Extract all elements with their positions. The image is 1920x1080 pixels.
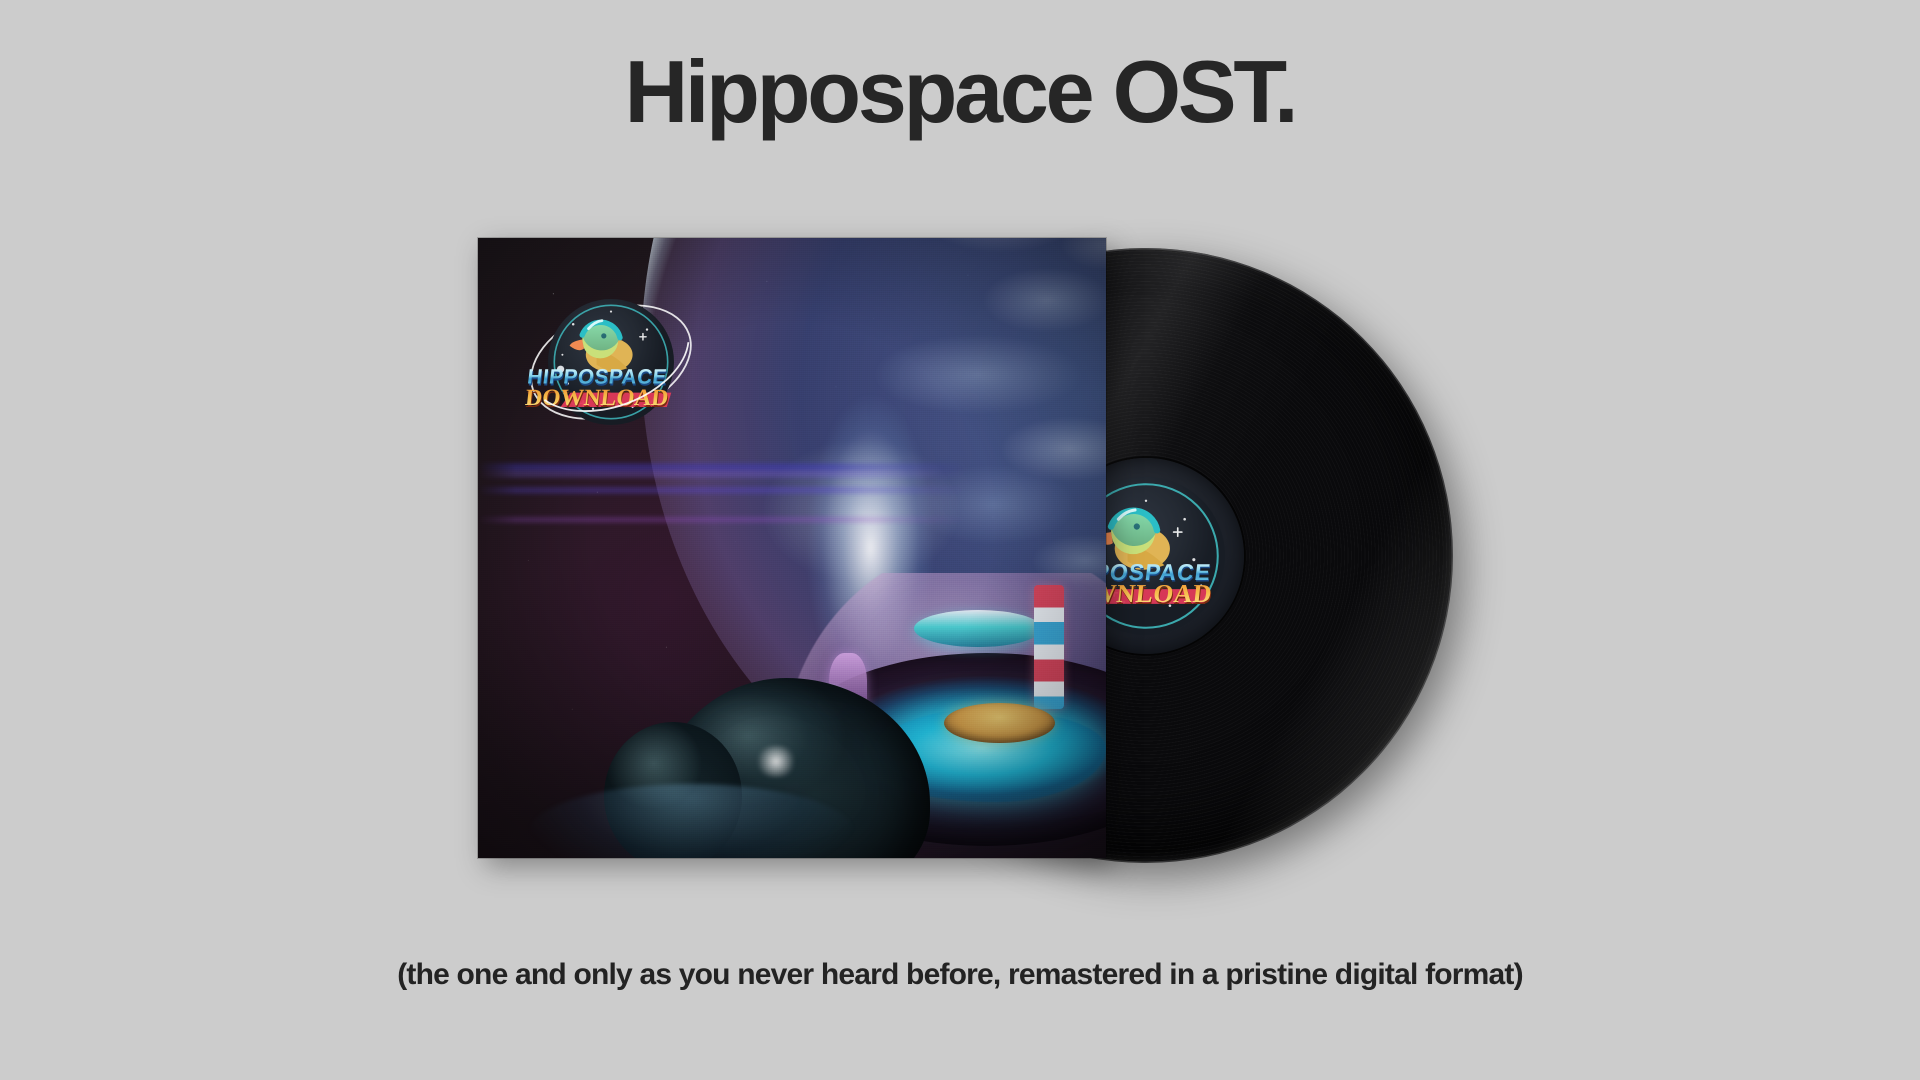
product-mockup: HIPPOSPACE HIPPOSPACE DOWNLOAD DOWNLOAD … [478, 238, 1403, 858]
artwork-dome-ring [944, 703, 1055, 743]
svg-text:DOWNLOAD: DOWNLOAD [524, 385, 670, 411]
hippospace-download-logo-icon: HIPPOSPACE HIPPOSPACE DOWNLOAD DOWNLOAD [520, 272, 702, 452]
artwork-dome-tower [1034, 585, 1064, 709]
page-title: Hippospace OST. [0, 46, 1920, 138]
page-caption: (the one and only as you never heard bef… [0, 958, 1920, 992]
album-cover: HIPPOSPACE HIPPOSPACE DOWNLOAD DOWNLOAD … [478, 238, 1106, 858]
artwork-dome-saucer [914, 610, 1042, 647]
